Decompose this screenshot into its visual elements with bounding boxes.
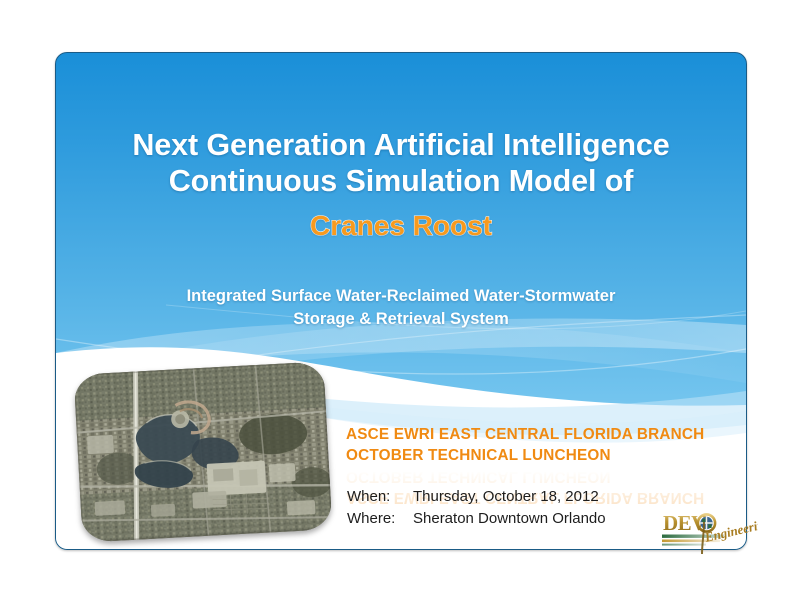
slide-subtitle: Integrated Surface Water-Reclaimed Water… (56, 285, 746, 331)
detail-label-when: When: (347, 486, 413, 508)
aerial-photo-image (74, 361, 333, 542)
subtitle-line-2: Storage & Retrieval System (56, 308, 746, 331)
aerial-photo (74, 361, 333, 542)
presentation-slide: Next Generation Artificial Intelligence … (0, 0, 800, 600)
subtitle-line-1: Integrated Surface Water-Reclaimed Water… (56, 285, 746, 308)
event-heading-line-1: ASCE EWRI EAST CENTRAL FLORIDA BRANCH (346, 424, 756, 445)
detail-value-when: Thursday, October 18, 2012 (413, 486, 747, 508)
aerial-photo-container (72, 360, 340, 552)
logo-wordmark: DEV (663, 511, 706, 535)
event-heading-line-2: OCTOBER TECHNICAL LUNCHEON (346, 445, 756, 466)
event-heading: ASCE EWRI EAST CENTRAL FLORIDA BRANCH OC… (346, 424, 756, 466)
detail-label-where: Where: (347, 508, 413, 530)
logo-mark: DEV Engineering (662, 508, 758, 564)
devo-engineering-logo: DEV Engineering (662, 508, 758, 564)
detail-row-when: When: Thursday, October 18, 2012 (347, 486, 747, 508)
